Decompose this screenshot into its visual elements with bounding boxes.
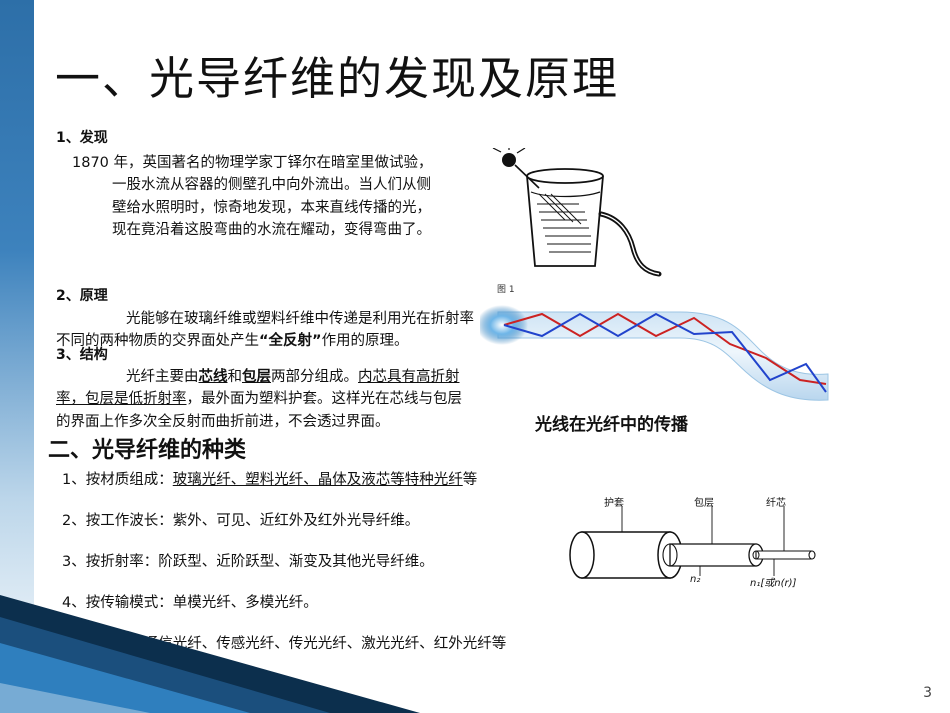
section3-body: 光纤主要由芯线和包层两部分组成。内芯具有高折射 率，包层是低折射率，最外面为塑料… [56,366,526,433]
section1-line-4: 现在竟沿着这股弯曲的水流在耀动，变得弯曲了。 [112,219,502,241]
fiber-cross-section-svg [560,498,850,588]
label-n1: n₁[或n(r)] [750,574,796,589]
label-core: 纤芯 [766,494,786,509]
label-sheath: 护套 [604,494,624,509]
figure-glass-experiment: 图 1 [487,148,667,293]
section1-body: 1870 年，英国著名的物理学家丁铎尔在暗室里做试验， 一股水流从容器的侧壁孔中… [72,152,502,242]
section1-line-3: 壁给水照明时，惊奇地发现，本来直线传播的光， [112,197,502,219]
page-title: 一、光导纤维的发现及原理 [55,52,775,106]
list-item: 2、按工作波长：紫外、可见、近红外及红外光导纤维。 [62,509,582,530]
section2-heading: 2、原理 [56,286,108,308]
label-cladding: 包层 [694,494,714,509]
slide: 一、光导纤维的发现及原理 1、发现 1870 年，英国著名的物理学家丁铎尔在暗室… [0,0,950,713]
section3-line-2: 率，包层是低折射率，最外面为塑料护套。这样光在芯线与包层 [56,388,526,410]
section2-line-1: 光能够在玻璃纤维或塑料纤维中传递是利用光在折射率 [56,308,526,330]
bottom-triangle-white [0,683,150,713]
s3-f: 内芯具有高折射 [358,369,460,385]
section2-body: 光能够在玻璃纤维或塑料纤维中传递是利用光在折射率 不同的两种物质的交界面处产生“… [56,308,526,353]
s3-h: ，最外面为塑料护套。这样光在芯线与包层 [187,391,463,407]
section3-line-3: 的界面上作多次全反射而曲折前进，不会透过界面。 [56,411,526,433]
section1-heading: 1、发现 [56,128,108,150]
section3-heading: 3、结构 [56,345,108,367]
section2-emph: “全反射” [259,333,322,349]
section1-line-2: 一股水流从容器的侧壁孔中向外流出。当人们从侧 [112,174,502,196]
figure-fiber-cross-section: 护套 包层 纤芯 n₂ n₁[或n(r)] [560,498,850,608]
s3-g: 率，包层是低折射率 [56,391,187,407]
list-item-prefix: 1、按材质组成： [62,472,173,488]
s3-e: 两部分组成。 [271,369,358,385]
section2-line-2: 不同的两种物质的交界面处产生“全反射”作用的原理。 [56,330,526,352]
section1-line-1: 1870 年，英国著名的物理学家丁铎尔在暗室里做试验， [72,152,502,174]
section3-line-1: 光纤主要由芯线和包层两部分组成。内芯具有高折射 [56,366,526,388]
section2-line2-c: 作用的原理。 [322,333,409,349]
list-item: 3、按折射率：阶跃型、近阶跃型、渐变及其他光导纤维。 [62,550,582,571]
bottom-decoration [0,593,950,713]
s3-d: 包层 [242,369,271,385]
page-number: 3 [923,685,932,701]
s3-b: 芯线 [199,369,228,385]
list-item-underline: 玻璃光纤、塑料光纤、晶体及液芯等特种光纤 [173,472,463,488]
figure-fiber-propagation: 光线在光纤中的传播 [480,288,840,448]
s3-c: 和 [228,369,243,385]
s3-a: 光纤主要由 [126,369,199,385]
list-item-suffix: 等 [463,472,478,488]
section-title-2: 二、光导纤维的种类 [48,432,246,464]
glass-experiment-svg [487,148,667,288]
label-n2: n₂ [690,574,700,585]
fiber-propagation-svg [480,288,840,413]
list-item: 1、按材质组成：玻璃光纤、塑料光纤、晶体及液芯等特种光纤等 [62,468,582,489]
figure-fiber-caption: 光线在光纤中的传播 [535,410,688,435]
